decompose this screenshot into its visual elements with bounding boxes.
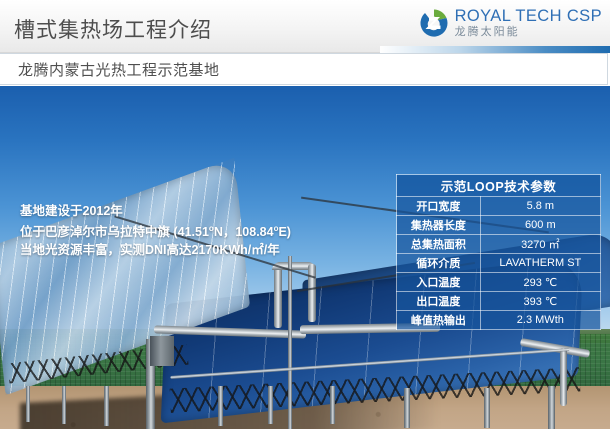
- table-row: 开口宽度 5.8 m: [397, 197, 601, 216]
- spec-label-htf: 循环介质: [397, 254, 481, 273]
- spec-value-inlet-temp: 293 ℃: [480, 273, 600, 292]
- spec-value-collector-length: 600 m: [480, 216, 600, 235]
- loop-riser-right: [560, 348, 567, 406]
- spec-value-aperture-width: 5.8 m: [480, 197, 600, 216]
- brand-name-en: ROYAL TECH CSP: [455, 8, 602, 25]
- table-row: 入口温度 293 ℃: [397, 273, 601, 292]
- royal-tech-logo-icon: [419, 8, 449, 38]
- spec-value-htf: LAVATHERM ST: [480, 254, 600, 273]
- spec-label-aperture-width: 开口宽度: [397, 197, 481, 216]
- site-info-line-1: 基地建设于2012年: [20, 202, 291, 220]
- spec-label-total-area: 总集热面积: [397, 235, 481, 254]
- support-leg: [104, 386, 109, 426]
- header-accent-bar: [380, 46, 610, 53]
- brand-logo: ROYAL TECH CSP 龙腾太阳能: [419, 8, 602, 38]
- support-leg: [62, 386, 66, 424]
- project-photo: 基地建设于2012年 位于巴彦淖尔市乌拉特中旗 (41.51oN，108.84o…: [0, 86, 610, 429]
- spec-value-total-area: 3270 ㎡: [480, 235, 600, 254]
- drive-unit: [150, 336, 174, 366]
- brand-name-cn: 龙腾太阳能: [455, 27, 602, 38]
- site-info-text: 基地建设于2012年 位于巴彦淖尔市乌拉特中旗 (41.51oN，108.84o…: [20, 202, 291, 259]
- table-row: 循环介质 LAVATHERM ST: [397, 254, 601, 273]
- site-info-line-2: 位于巴彦淖尔市乌拉特中旗 (41.51oN，108.84oE): [20, 220, 291, 241]
- subtitle-bar: 龙腾内蒙古光热工程示范基地: [0, 53, 608, 85]
- spec-label-collector-length: 集热器长度: [397, 216, 481, 235]
- riser-pipe: [274, 266, 282, 328]
- pipe-support-mast: [288, 256, 292, 429]
- subtitle-text: 龙腾内蒙古光热工程示范基地: [18, 59, 220, 80]
- slide-header: 槽式集热场工程介绍 ROYAL TECH CSP 龙腾太阳能: [0, 0, 610, 53]
- support-leg: [404, 388, 410, 428]
- downcomer-pipe: [308, 264, 316, 322]
- brand-text-block: ROYAL TECH CSP 龙腾太阳能: [455, 8, 602, 38]
- spec-value-outlet-temp: 393 ℃: [480, 292, 600, 311]
- table-title-row: 示范LOOP技术参数: [397, 175, 601, 197]
- support-leg: [484, 388, 490, 428]
- spec-table-title: 示范LOOP技术参数: [397, 175, 601, 197]
- table-row: 峰值热输出 2.3 MWth: [397, 311, 601, 330]
- support-leg: [26, 386, 30, 422]
- slide-canvas: 槽式集热场工程介绍 ROYAL TECH CSP 龙腾太阳能 龙腾内蒙古光热工程…: [0, 0, 610, 429]
- support-leg: [330, 386, 335, 424]
- spec-label-inlet-temp: 入口温度: [397, 273, 481, 292]
- table-row: 集热器长度 600 m: [397, 216, 601, 235]
- support-leg: [218, 386, 223, 426]
- spec-table: 示范LOOP技术参数 开口宽度 5.8 m 集热器长度 600 m 总集热面积 …: [396, 174, 601, 330]
- spec-label-peak-output: 峰值热输出: [397, 311, 481, 330]
- table-row: 总集热面积 3270 ㎡: [397, 235, 601, 254]
- site-info-line-3: 当地光资源丰富，实测DNI高达2170KWh/㎡/年: [20, 241, 291, 259]
- support-leg: [548, 386, 555, 429]
- spec-table-body: 示范LOOP技术参数 开口宽度 5.8 m 集热器长度 600 m 总集热面积 …: [397, 175, 601, 330]
- spec-value-peak-output: 2.3 MWth: [480, 311, 600, 330]
- table-row: 出口温度 393 ℃: [397, 292, 601, 311]
- support-leg: [268, 386, 273, 424]
- spec-label-outlet-temp: 出口温度: [397, 292, 481, 311]
- page-title: 槽式集热场工程介绍: [14, 14, 212, 44]
